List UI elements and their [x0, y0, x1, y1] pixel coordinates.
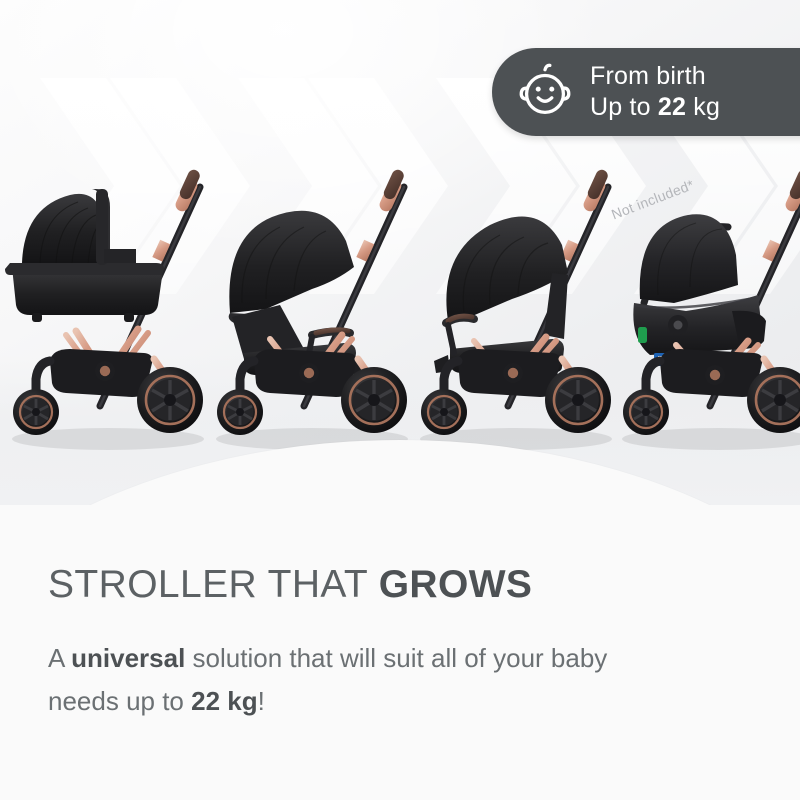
- headline-light-part: STROLLER THAT: [48, 563, 379, 606]
- page-title: STROLLER THAT GROWS: [48, 563, 752, 607]
- rear-wheel: [545, 367, 611, 433]
- body-part-1: A: [48, 643, 71, 673]
- badge-line-from-birth: From birth: [590, 61, 720, 92]
- badge-weight-prefix: Up to: [590, 93, 658, 121]
- front-wheel: [623, 389, 669, 435]
- front-wheel: [217, 389, 263, 435]
- body-bold-universal: universal: [71, 643, 185, 673]
- badge-weight-unit: kg: [686, 93, 720, 121]
- rear-wheel: [341, 367, 407, 433]
- page-subtitle: A universal solution that will suit all …: [48, 637, 608, 723]
- body-bold-weight: 22 kg: [191, 686, 258, 716]
- front-wheel: [13, 389, 59, 435]
- badge-weight-value: 22: [658, 93, 686, 121]
- body-part-3: !: [258, 686, 265, 716]
- age-weight-badge: From birth Up to 22 kg: [492, 48, 800, 136]
- product-config-carrycot: [4, 163, 212, 453]
- baby-face-icon: [514, 61, 576, 123]
- product-config-seat-unit-forward-facing: [412, 163, 620, 453]
- product-config-seat-unit-rear-facing: [208, 163, 416, 453]
- carrycot-body: [5, 189, 164, 322]
- badge-line-weight: Up to 22 kg: [590, 92, 720, 123]
- headline-bold-part: GROWS: [379, 563, 533, 606]
- rear-wheel: [137, 367, 203, 433]
- front-wheel: [421, 389, 467, 435]
- badge-text-block: From birth Up to 22 kg: [590, 61, 720, 123]
- copy-panel: STROLLER THAT GROWS A universal solution…: [0, 505, 800, 800]
